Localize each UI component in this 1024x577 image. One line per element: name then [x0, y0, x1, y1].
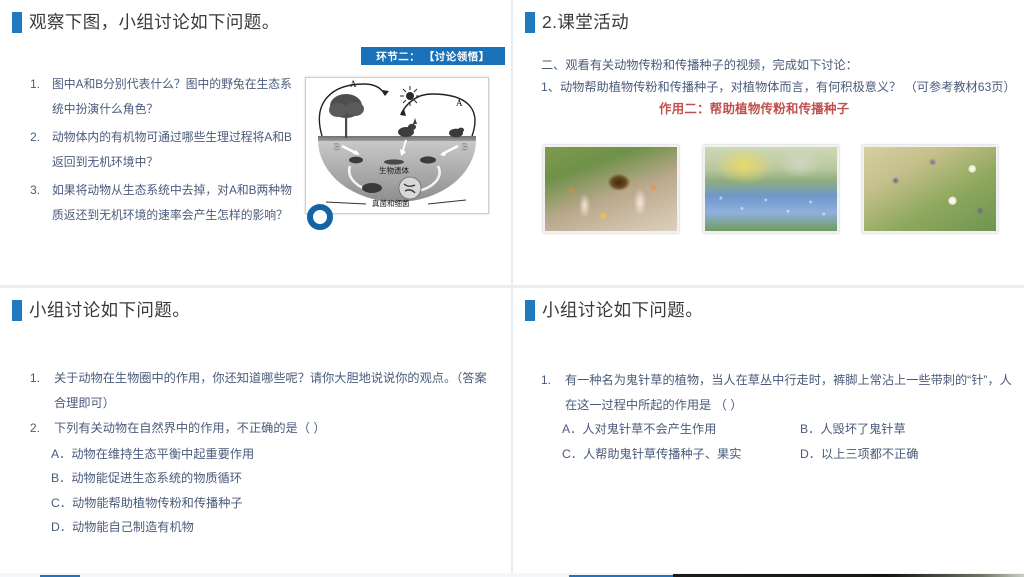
- list-item-number: 2.: [24, 125, 40, 150]
- list-item: 3. 如果将动物从生态系统中去掉，对A和B两种物质返还到无机环境的速率会产生怎样…: [24, 178, 294, 228]
- slide-header: 2.课堂活动: [525, 12, 629, 33]
- list-item-text: 关于动物在生物圈中的作用，你还知道哪些呢？请你大胆地说说你的观点。（答案合理即可…: [54, 366, 494, 415]
- option-item: A．动物在维持生态平衡中起重要作用: [51, 442, 254, 467]
- option-item: A．人对鬼针草不会产生作用: [562, 417, 800, 442]
- slide-header: 小组讨论如下问题。: [12, 300, 190, 321]
- svg-text:B: B: [334, 142, 340, 152]
- list-item: 1. 图中A和B分别代表什么？图中的野兔在生态系统中扮演什么角色？: [24, 72, 294, 122]
- question-list: 1. 图中A和B分别代表什么？图中的野兔在生态系统中扮演什么角色？ 2. 动物体…: [24, 72, 294, 231]
- slide-class-activity[interactable]: 2.课堂活动 二、观看有关动物传粉和传播种子的视频，完成如下讨论： 1、动物帮助…: [513, 0, 1024, 285]
- activity-body: 二、观看有关动物传粉和传播种子的视频，完成如下讨论： 1、动物帮助植物传粉和传播…: [541, 55, 1011, 121]
- list-item-text: 图中A和B分别代表什么？图中的野兔在生态系统中扮演什么角色？: [52, 72, 294, 122]
- ecosystem-material-cycle-diagram: A A: [305, 77, 489, 214]
- slide-observe-discuss[interactable]: 观察下图，小组讨论如下问题。 环节二： 【讨论领悟】 1. 图中A和B分别代表什…: [0, 0, 511, 285]
- option-item: D．以上三项都不正确: [800, 442, 919, 467]
- slide-group-discussion-2[interactable]: 小组讨论如下问题。 环节三： 【展示分享】 1. 有一种名为鬼针草的植物，当人在…: [513, 288, 1024, 573]
- list-item: 1. 有一种名为鬼针草的植物，当人在草丛中行走时，裤脚上常沾上一些带刺的“针”，…: [535, 368, 1015, 417]
- title-marker-icon: [12, 12, 22, 33]
- photo-blue-flower-meadow: [703, 145, 839, 233]
- list-item-text: 有一种名为鬼针草的植物，当人在草丛中行走时，裤脚上常沾上一些带刺的“针”，人在这…: [565, 368, 1015, 417]
- list-item-number: 3.: [24, 178, 40, 203]
- photo-bee-on-flower: [543, 145, 679, 233]
- decorative-ring: [307, 204, 333, 230]
- status-badge: 环节二： 【讨论领悟】: [361, 47, 505, 65]
- highlight-caption: 作用二：帮助植物传粉和传播种子: [659, 99, 1011, 121]
- option-row: A．人对鬼针草不会产生作用 B．人毁坏了鬼针草: [535, 417, 1015, 442]
- option-row: C．人帮助鬼针草传播种子、果实 D．以上三项都不正确: [535, 442, 1015, 467]
- option-row: A．动物在维持生态平衡中起重要作用: [24, 442, 494, 467]
- svg-text:B: B: [462, 142, 468, 152]
- page-title: 小组讨论如下问题。: [542, 302, 703, 320]
- svg-text:真菌和细菌: 真菌和细菌: [372, 198, 410, 208]
- option-list: A．动物在维持生态平衡中起重要作用 B．动物能促进生态系统的物质循环 C．动物能…: [24, 442, 494, 540]
- question-list: 1. 有一种名为鬼针草的植物，当人在草丛中行走时，裤脚上常沾上一些带刺的“针”，…: [535, 368, 1015, 466]
- option-item: D．动物能自己制造有机物: [51, 515, 194, 540]
- title-marker-icon: [525, 300, 535, 321]
- list-item-text: 如果将动物从生态系统中去掉，对A和B两种物质返还到无机环境的速率会产生怎样的影响…: [52, 178, 294, 228]
- page-title: 观察下图，小组讨论如下问题。: [29, 14, 280, 32]
- list-item-number: 1.: [24, 366, 40, 391]
- slide-header: 观察下图，小组讨论如下问题。: [12, 12, 280, 33]
- question-list: 1. 关于动物在生物圈中的作用，你还知道哪些呢？请你大胆地说说你的观点。（答案合…: [24, 366, 494, 540]
- list-item: 2. 下列有关动物在自然界中的作用，不正确的是（ ）: [24, 416, 494, 441]
- activity-line: 1、动物帮助植物传粉和传播种子，对植物体而言，有何积极意义？ （可参考教材63页…: [541, 77, 1011, 99]
- list-item: 1. 关于动物在生物圈中的作用，你还知道哪些呢？请你大胆地说说你的观点。（答案合…: [24, 366, 494, 415]
- list-item-number: 1.: [24, 72, 40, 97]
- svg-text:A: A: [350, 79, 357, 89]
- list-item-number: 2.: [24, 416, 40, 441]
- option-item: C．动物能帮助植物传粉和传播种子: [51, 491, 243, 516]
- slide-grid-view: 观察下图，小组讨论如下问题。 环节二： 【讨论领悟】 1. 图中A和B分别代表什…: [0, 0, 1024, 577]
- page-title: 2.课堂活动: [542, 14, 629, 32]
- title-marker-icon: [525, 12, 535, 33]
- activity-line: 二、观看有关动物传粉和传播种子的视频，完成如下讨论：: [541, 55, 1011, 77]
- option-item: C．人帮助鬼针草传播种子、果实: [562, 442, 800, 467]
- option-item: B．人毁坏了鬼针草: [800, 417, 906, 442]
- photo-row: [543, 145, 998, 233]
- option-row: C．动物能帮助植物传粉和传播种子: [24, 491, 494, 516]
- title-marker-icon: [12, 300, 22, 321]
- list-item-text: 动物体内的有机物可通过哪些生理过程将A和B返回到无机环境中？: [52, 125, 294, 175]
- svg-text:生物遗体: 生物遗体: [379, 165, 409, 175]
- option-row: D．动物能自己制造有机物: [24, 515, 494, 540]
- list-item-number: 1.: [535, 368, 551, 393]
- list-item: 2. 动物体内的有机物可通过哪些生理过程将A和B返回到无机环境中？: [24, 125, 294, 175]
- option-item: B．动物能促进生态系统的物质循环: [51, 466, 242, 491]
- slide-group-discussion-1[interactable]: 小组讨论如下问题。 环节三： 【展示分享】 1. 关于动物在生物圈中的作用，你还…: [0, 288, 511, 573]
- photo-daisies-and-lavender: [862, 145, 998, 233]
- option-list: A．人对鬼针草不会产生作用 B．人毁坏了鬼针草 C．人帮助鬼针草传播种子、果实 …: [535, 417, 1015, 466]
- page-title: 小组讨论如下问题。: [29, 302, 190, 320]
- option-row: B．动物能促进生态系统的物质循环: [24, 466, 494, 491]
- svg-text:A: A: [456, 98, 463, 108]
- list-item-text: 下列有关动物在自然界中的作用，不正确的是（ ）: [54, 416, 494, 441]
- slide-header: 小组讨论如下问题。: [525, 300, 703, 321]
- ecosystem-diagram-svg: A A: [306, 78, 488, 213]
